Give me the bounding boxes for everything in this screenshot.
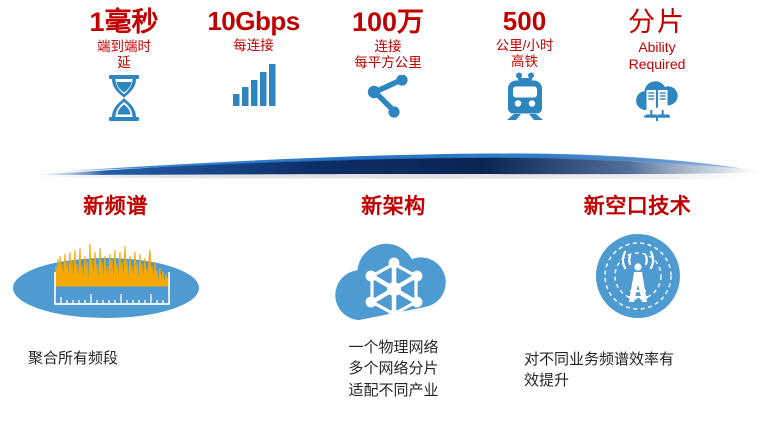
slide-canvas: 1毫秒 端到端时 延 10Gbps 每连接: [0, 0, 765, 425]
pillar-title: 新空口技术: [520, 190, 755, 220]
kpi-row: 1毫秒 端到端时 延 10Gbps 每连接: [72, 8, 712, 158]
kpi-subtitle: 每连接: [233, 38, 274, 54]
train-icon: [505, 72, 545, 125]
antenna-broadcast-icon: [582, 226, 694, 331]
kpi-subtitle: Ability Required: [629, 39, 686, 72]
cloud-mesh-icon: [319, 226, 469, 331]
kpi-item-throughput: 10Gbps 每连接: [202, 8, 306, 111]
kpi-item-mobility: 500 公里/小时 高铁: [475, 8, 575, 125]
hourglass-icon: [102, 73, 146, 128]
kpi-item-latency: 1毫秒 端到端时 延: [72, 8, 176, 128]
pillar-caption: 对不同业务频谱效率有 效提升: [520, 349, 755, 392]
pillar-caption: 一个物理网络 多个网络分片 适配不同产业: [286, 337, 501, 401]
kpi-item-density: 100万 连接 每平方公里: [333, 8, 443, 124]
kpi-headline: 分片: [628, 8, 686, 36]
kpi-subtitle: 连接 每平方公里: [354, 39, 422, 71]
share-nodes-icon: [365, 75, 411, 124]
pillar-new-air-interface: 新空口技术: [520, 190, 755, 392]
kpi-icon-wrap: [365, 76, 411, 124]
signal-bars-icon: [232, 64, 276, 111]
kpi-item-slicing: 分片 Ability Required: [602, 8, 712, 127]
pillar-icon-wrap: [8, 226, 223, 336]
kpi-icon-wrap: [232, 59, 276, 111]
kpi-headline: 1毫秒: [89, 8, 158, 36]
kpi-icon-wrap: [632, 77, 682, 127]
kpi-headline: 500: [503, 8, 546, 35]
kpi-headline: 100万: [352, 8, 424, 36]
kpi-subtitle: 公里/小时 高铁: [496, 38, 554, 70]
kpi-icon-wrap: [505, 75, 545, 125]
kpi-icon-wrap: [102, 76, 146, 128]
kpi-headline: 10Gbps: [207, 8, 299, 35]
pillar-icon-wrap: [520, 226, 755, 331]
pillar-title: 新架构: [286, 190, 501, 220]
cloud-server-icon: [632, 76, 682, 127]
spectrum-waveform-icon: [11, 226, 221, 336]
kpi-subtitle: 端到端时 延: [97, 39, 151, 71]
pillar-caption: 聚合所有频段: [8, 348, 223, 369]
pillar-new-spectrum: 新频谱: [8, 190, 223, 369]
pillar-title: 新频谱: [8, 190, 223, 220]
pillar-icon-wrap: [286, 226, 501, 331]
pillar-new-architecture: 新架构: [286, 190, 501, 401]
